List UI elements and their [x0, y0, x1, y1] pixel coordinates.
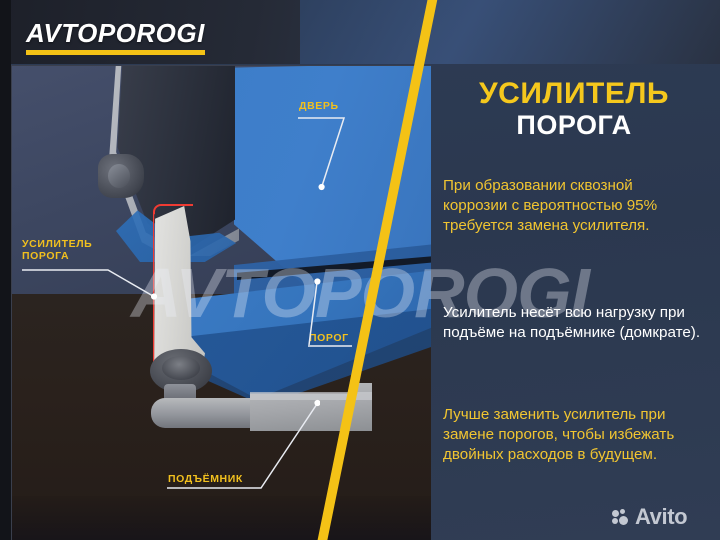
- avito-watermark: Avito: [612, 506, 687, 528]
- page-title: УСИЛИТЕЛЬ ПОРОГА: [443, 78, 705, 140]
- callout-jack-leader: [165, 398, 320, 494]
- callout-sill-leader: [290, 278, 360, 350]
- title-line-1: УСИЛИТЕЛЬ: [443, 78, 705, 110]
- callout-reinforcer-label-line1: УСИЛИТЕЛЬ: [22, 238, 92, 250]
- paragraph-advice: Лучше заменить усилитель при замене поро…: [443, 405, 701, 464]
- paragraph-load: Усилитель несёт всю нагрузку при подъёме…: [443, 303, 701, 343]
- promo-card: AVTOPOROGI УСИЛИТЕЛЬ ПОРОГА ДВЕРЬ ПОРОГ …: [0, 0, 720, 540]
- avito-dots-icon: [612, 509, 632, 525]
- callout-door-label: ДВЕРЬ: [299, 100, 339, 112]
- paragraph-corrosion: При образовании сквозной коррозии с веро…: [443, 176, 701, 235]
- jack-cup-inner: [162, 356, 200, 380]
- callout-door-leader: [296, 114, 366, 196]
- logo-underline: [26, 50, 205, 55]
- logo-text: AVTOPOROGI: [26, 20, 205, 46]
- avito-label: Avito: [635, 506, 687, 528]
- callout-door: ДВЕРЬ: [299, 100, 339, 112]
- callout-reinforcer: УСИЛИТЕЛЬ ПОРОГА: [22, 238, 92, 263]
- logo[interactable]: AVTOPOROGI: [26, 20, 205, 55]
- callout-reinforcer-label-line2: ПОРОГА: [22, 250, 69, 262]
- illustration-floor-shadow: [12, 496, 431, 540]
- callout-reinforcer-leader: [20, 265, 180, 305]
- title-line-2: ПОРОГА: [443, 110, 705, 140]
- header-blur-overlay: [300, 0, 720, 64]
- door-hinge-pin: [108, 164, 130, 188]
